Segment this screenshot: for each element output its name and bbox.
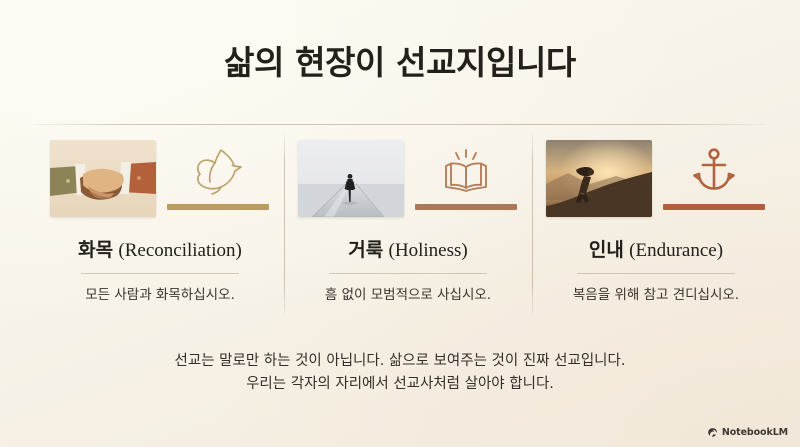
notebooklm-watermark: NotebookLM [707, 427, 788, 438]
footer-line-1: 선교는 말로만 하는 것이 아닙니다. 삶으로 보여주는 것이 진짜 선교입니다… [0, 350, 800, 373]
icon-column [662, 140, 766, 219]
footer-line-2: 우리는 각자의 자리에서 선교사처럼 살아야 합니다. [0, 373, 800, 396]
notebooklm-spark-icon [707, 427, 718, 438]
walking-person-road-photo [298, 140, 404, 217]
dove-icon [191, 140, 245, 202]
accent-bar [167, 204, 269, 210]
title-block: 삶의 현장이 선교지입니다 [0, 44, 800, 83]
card-subtitle: 복음을 위해 참고 견디십시오. [573, 283, 739, 303]
person-carrying-load-uphill-photo [546, 140, 652, 217]
icon-column [166, 140, 270, 219]
card-separator [329, 273, 487, 274]
accent-bar [663, 204, 765, 210]
card-row: 화목 (Reconciliation) 모든 사람과 화목하십시오. [36, 140, 765, 312]
slide-canvas: 삶의 현장이 선교지입니다 [0, 0, 800, 447]
card-holiness: 거룩 (Holiness) 흠 없이 모범적으로 사십시오. [284, 140, 532, 312]
card-reconciliation: 화목 (Reconciliation) 모든 사람과 화목하십시오. [36, 140, 284, 312]
card-title-en: (Reconciliation) [118, 240, 241, 261]
card-title: 거룩 (Holiness) [348, 239, 467, 263]
card-subtitle: 모든 사람과 화목하십시오. [85, 283, 235, 303]
card-separator [81, 273, 239, 274]
anchor-icon [688, 140, 740, 202]
handshake-photo [50, 140, 156, 217]
card-title: 화목 (Reconciliation) [78, 239, 242, 263]
footer-message: 선교는 말로만 하는 것이 아닙니다. 삶으로 보여주는 것이 진짜 선교입니다… [0, 350, 800, 397]
card-separator [577, 273, 735, 274]
card-title-en: (Holiness) [389, 240, 468, 261]
card-media [546, 140, 766, 222]
icon-column [414, 140, 518, 219]
card-title-kr: 거룩 [348, 239, 383, 261]
page-title: 삶의 현장이 선교지입니다 [0, 44, 800, 83]
card-media [50, 140, 270, 222]
card-title-kr: 화목 [78, 239, 113, 261]
open-book-icon [439, 140, 493, 202]
card-media [298, 140, 518, 222]
card-endurance: 인내 (Endurance) 복음을 위해 참고 견디십시오. [532, 140, 780, 312]
card-title-kr: 인내 [589, 239, 624, 261]
card-title: 인내 (Endurance) [589, 239, 723, 263]
accent-bar [415, 204, 517, 210]
header-divider [36, 124, 765, 125]
card-title-en: (Endurance) [629, 240, 723, 261]
notebooklm-label: NotebookLM [722, 427, 788, 438]
card-subtitle: 흠 없이 모범적으로 사십시오. [325, 283, 491, 303]
